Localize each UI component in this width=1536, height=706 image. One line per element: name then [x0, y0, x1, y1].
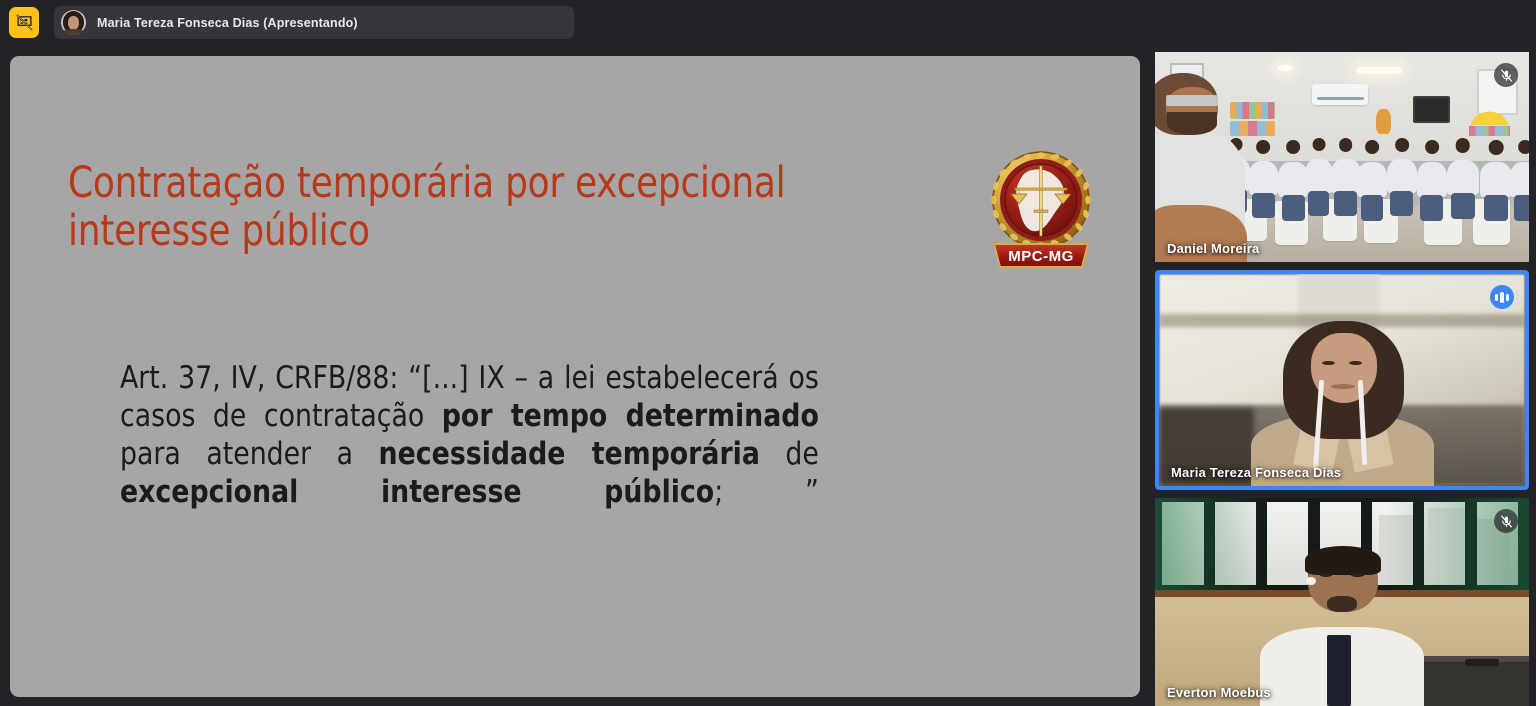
logo-banner-text: MPC-MG — [1008, 248, 1074, 265]
meeting-screen-share-view: Maria Tereza Fonseca Dias (Apresentando)… — [0, 0, 1536, 706]
presenter-name-label: Maria Tereza Fonseca Dias (Apresentando) — [97, 16, 358, 30]
video-feed — [1159, 274, 1525, 486]
stop-screen-share-button[interactable] — [9, 7, 39, 38]
video-feed — [1155, 52, 1529, 262]
shared-slide-stage[interactable]: Contratação temporária por excepcional i… — [10, 56, 1140, 697]
video-feed — [1155, 498, 1529, 706]
video-tile-everton-moebus[interactable]: Everton Moebus — [1155, 498, 1529, 706]
video-tile-maria-tereza-fonseca-dias[interactable]: Maria Tereza Fonseca Dias — [1155, 270, 1529, 490]
video-tile-daniel-moreira[interactable]: Daniel Moreira — [1155, 52, 1529, 262]
participant-name-label: Everton Moebus — [1167, 685, 1271, 700]
slide-title: Contratação temporária por excepcional i… — [68, 159, 812, 255]
mpc-mg-logo: MPC-MG — [982, 148, 1100, 272]
participant-name-label: Maria Tereza Fonseca Dias — [1171, 465, 1341, 480]
mic-off-icon[interactable] — [1494, 509, 1518, 533]
slide-body-text: Art. 37, IV, CRFB/88: “[...] IX – a lei … — [120, 359, 819, 550]
participant-video-rail: Daniel Moreira — [1155, 52, 1529, 706]
presenter-avatar — [61, 10, 86, 35]
mic-off-icon[interactable] — [1494, 63, 1518, 87]
audio-level-icon[interactable] — [1490, 285, 1514, 309]
participant-name-label: Daniel Moreira — [1167, 241, 1259, 256]
top-bar: Maria Tereza Fonseca Dias (Apresentando) — [0, 0, 1536, 46]
presenter-chip[interactable]: Maria Tereza Fonseca Dias (Apresentando) — [54, 6, 574, 39]
screen-share-off-icon — [16, 14, 33, 31]
